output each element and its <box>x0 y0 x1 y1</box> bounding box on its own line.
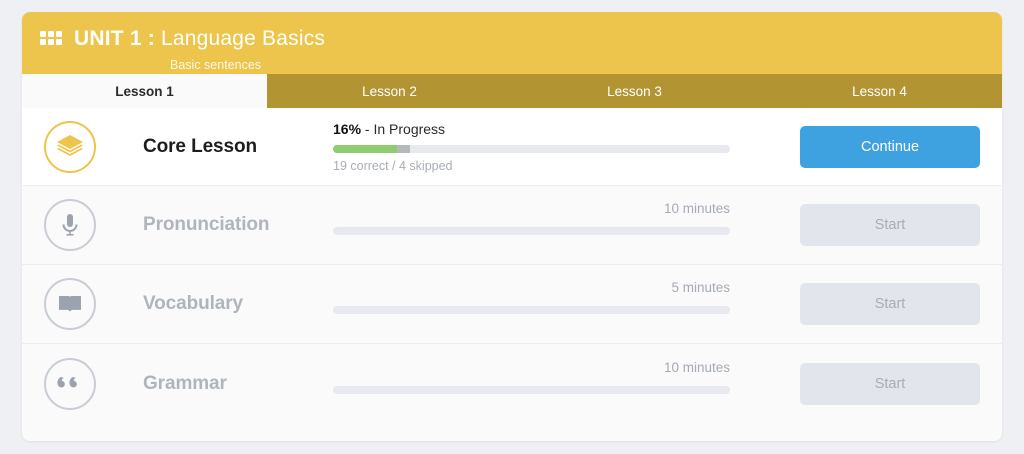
microphone-icon <box>44 199 96 251</box>
progress-bar-skipped <box>397 145 411 153</box>
grid-cell <box>48 31 54 37</box>
progress-detail: 19 correct / 4 skipped <box>333 159 453 173</box>
start-button[interactable]: Start <box>800 363 980 405</box>
lesson-row-grammar[interactable]: Grammar 10 minutes Start <box>22 344 1002 423</box>
progress-bar <box>333 145 730 153</box>
grid-icon[interactable] <box>40 31 62 47</box>
unit-subtitle: Basic sentences <box>170 58 1002 72</box>
lesson-tabs: Lesson 1 Lesson 2 Lesson 3 Lesson 4 <box>22 74 1002 108</box>
grid-cell <box>56 39 62 45</box>
unit-header: UNIT 1 : Language Basics Basic sentences <box>22 12 1002 74</box>
lesson-row-pronunciation[interactable]: Pronunciation 10 minutes Start <box>22 186 1002 265</box>
grid-cell <box>48 39 54 45</box>
progress-bar <box>333 227 730 235</box>
lesson-progress-area: 10 minutes <box>333 199 730 251</box>
unit-title-row: UNIT 1 : Language Basics <box>22 22 1002 56</box>
lesson-action: Continue <box>800 126 980 168</box>
grid-cell <box>40 39 46 45</box>
continue-button[interactable]: Continue <box>800 126 980 168</box>
progress-bar <box>333 306 730 314</box>
progress-status-text: - In Progress <box>361 121 445 137</box>
tab-lesson-3[interactable]: Lesson 3 <box>512 74 757 108</box>
progress-percent: 16% <box>333 121 361 137</box>
lesson-progress-area: 16% - In Progress 19 correct / 4 skipped <box>333 121 730 173</box>
progress-bar-fill <box>333 145 397 153</box>
layers-icon <box>44 121 96 173</box>
lesson-action: Start <box>800 363 980 405</box>
lesson-status: 16% - In Progress <box>333 121 445 137</box>
unit-title: Language Basics <box>161 27 325 51</box>
grid-cell <box>40 31 46 37</box>
quote-icon <box>44 358 96 410</box>
tab-lesson-4[interactable]: Lesson 4 <box>757 74 1002 108</box>
start-button[interactable]: Start <box>800 204 980 246</box>
lesson-row-vocabulary[interactable]: Vocabulary 5 minutes Start <box>22 265 1002 344</box>
lesson-duration: 10 minutes <box>664 201 730 216</box>
tab-lesson-1[interactable]: Lesson 1 <box>22 74 267 108</box>
lesson-title: Grammar <box>143 373 333 395</box>
lesson-title: Vocabulary <box>143 293 333 315</box>
start-button[interactable]: Start <box>800 283 980 325</box>
progress-bar <box>333 386 730 394</box>
lesson-duration: 10 minutes <box>664 360 730 375</box>
lesson-action: Start <box>800 204 980 246</box>
tab-lesson-2[interactable]: Lesson 2 <box>267 74 512 108</box>
unit-number-label: UNIT 1 : <box>74 27 161 51</box>
unit-card: UNIT 1 : Language Basics Basic sentences… <box>22 12 1002 441</box>
lesson-action: Start <box>800 283 980 325</box>
grid-cell <box>56 31 62 37</box>
lesson-progress-area: 5 minutes <box>333 278 730 330</box>
lesson-duration: 5 minutes <box>671 280 730 295</box>
book-icon <box>44 278 96 330</box>
lesson-title: Pronunciation <box>143 214 333 236</box>
lesson-list: Core Lesson 16% - In Progress 19 correct… <box>22 108 1002 441</box>
lesson-progress-area: 10 minutes <box>333 358 730 410</box>
lesson-row-core[interactable]: Core Lesson 16% - In Progress 19 correct… <box>22 108 1002 186</box>
lesson-title: Core Lesson <box>143 136 333 158</box>
